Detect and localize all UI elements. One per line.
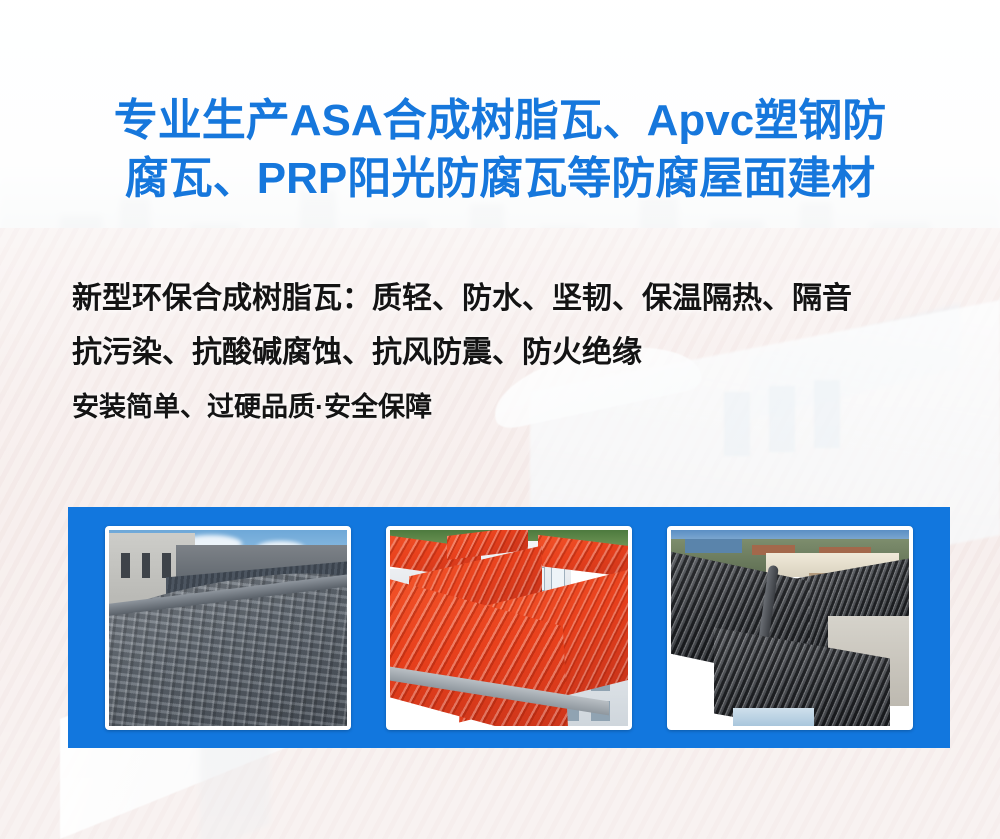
subtitle-line-1: 新型环保合成树脂瓦：质轻、防水、坚韧、保温隔热、隔音 xyxy=(72,272,852,326)
subtitle-line-3: 安装简单、过硬品质·安全保障 xyxy=(72,380,852,434)
gallery-photo-grey-roof[interactable] xyxy=(105,526,351,730)
headline-line-1: 专业生产ASA合成树脂瓦、Apvc塑钢防 xyxy=(0,92,1000,150)
subtitle-line-2: 抗污染、抗酸碱腐蚀、抗风防震、防火绝缘 xyxy=(72,326,852,380)
headline: 专业生产ASA合成树脂瓦、Apvc塑钢防 腐瓦、PRP阳光防腐瓦等防腐屋面建材 xyxy=(0,92,1000,208)
gallery-photo-black-roof[interactable] xyxy=(667,526,913,730)
gallery-photo-red-roof[interactable] xyxy=(386,526,632,730)
photo-gallery xyxy=(68,507,950,748)
photo3-blue-roof-building xyxy=(685,539,742,553)
headline-line-2: 腐瓦、PRP阳光防腐瓦等防腐屋面建材 xyxy=(0,150,1000,208)
photo3-reflection xyxy=(733,708,814,726)
subtitle-block: 新型环保合成树脂瓦：质轻、防水、坚韧、保温隔热、隔音 抗污染、抗酸碱腐蚀、抗风防… xyxy=(72,272,852,434)
